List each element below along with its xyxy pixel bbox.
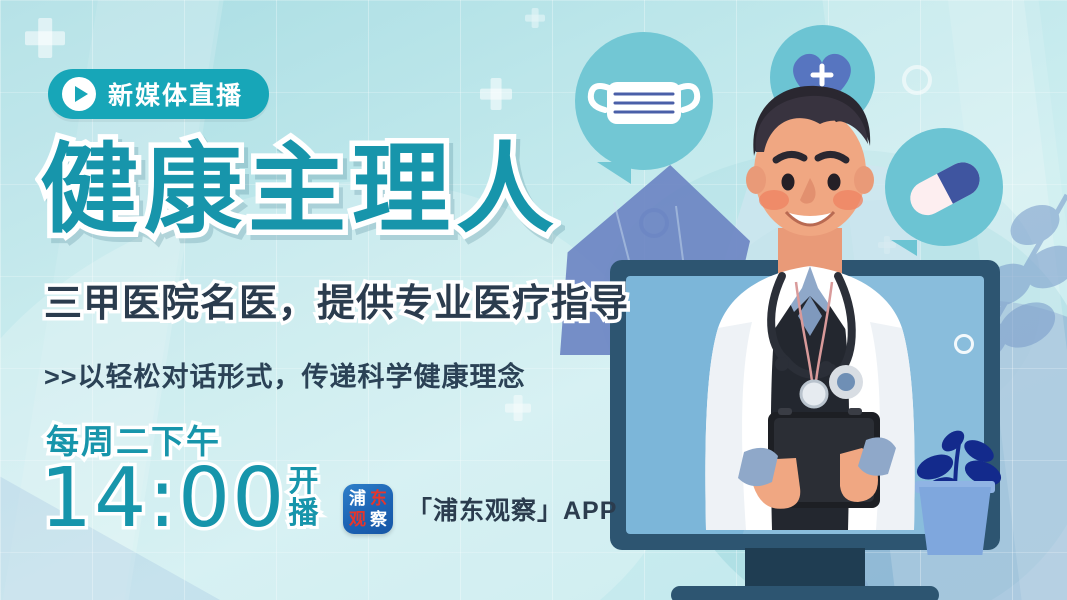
white-cross-icon xyxy=(480,78,512,110)
schedule-time: 14:00 xyxy=(40,460,286,538)
monitor-stand-neck xyxy=(745,548,865,590)
white-cross-icon xyxy=(525,8,545,28)
app-logo-icon: 浦 东 观 察 xyxy=(343,484,393,534)
monitor-stand-base xyxy=(671,586,939,600)
app-promo-row[interactable]: 浦 东 观 察 「浦东观察」APP xyxy=(343,484,617,534)
white-cross-icon xyxy=(505,395,531,421)
app-name-label: 「浦东观察」APP xyxy=(407,491,617,527)
play-icon xyxy=(62,77,96,111)
app-logo-char-1: 浦 xyxy=(349,490,366,507)
plant-pot xyxy=(919,487,991,555)
schedule-time-block: 14:00 开 播 xyxy=(40,460,318,538)
app-logo-char-3: 观 xyxy=(349,511,366,528)
schedule-air-label: 开 播 xyxy=(288,466,318,529)
page-subtitle: 三甲医院名医，提供专业医疗指导 xyxy=(44,272,629,327)
app-logo-char-2: 东 xyxy=(370,490,387,507)
potted-plant xyxy=(905,425,1015,555)
schedule-air-label-line2: 播 xyxy=(288,498,318,530)
app-logo-char-4: 察 xyxy=(370,511,387,528)
white-cross-icon xyxy=(25,18,65,58)
poster-canvas: 新媒体直播 健康主理人 三甲医院名医，提供专业医疗指导 >>以轻松对话形式，传递… xyxy=(0,0,1067,600)
live-stream-badge-label: 新媒体直播 xyxy=(108,76,243,112)
page-tagline: >>以轻松对话形式，传递科学健康理念 xyxy=(44,355,526,394)
schedule-air-label-line1: 开 xyxy=(288,466,318,498)
page-title: 健康主理人 xyxy=(40,135,560,245)
live-stream-badge[interactable]: 新媒体直播 xyxy=(48,69,269,119)
